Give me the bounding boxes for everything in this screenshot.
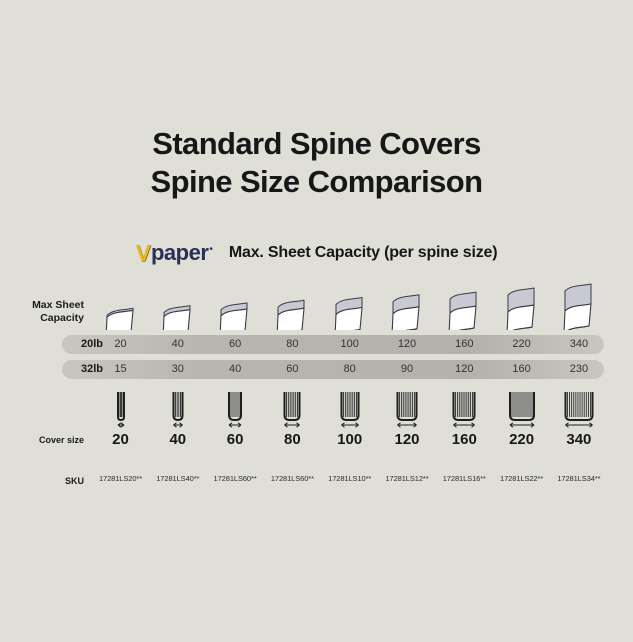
cover-size-value: 100 — [321, 431, 378, 448]
cover-size-value: 120 — [379, 431, 436, 448]
paper-stack-row — [0, 278, 633, 330]
spine-icon — [321, 390, 378, 436]
capacity-value: 60 — [264, 360, 321, 379]
cover-size-value: 160 — [436, 431, 493, 448]
capacity-value: 160 — [493, 360, 550, 379]
cover-size-value: 340 — [550, 431, 607, 448]
cover-size-value: 80 — [264, 431, 321, 448]
paper-stack-icon — [321, 278, 378, 330]
capacity-value: 100 — [321, 335, 378, 354]
sku-value: 17281LS20** — [90, 474, 152, 483]
sku-value: 17281LS16** — [433, 474, 495, 483]
spine-icon — [264, 390, 321, 436]
sku-value: 17281LS60** — [261, 474, 323, 483]
sku-value: 17281LS60** — [204, 474, 266, 483]
paper-stack-icon — [149, 278, 206, 330]
capacity-value: 80 — [264, 335, 321, 354]
spine-icon — [436, 390, 493, 436]
paper-stack-icon — [379, 278, 436, 330]
paper-stack-icon — [550, 278, 607, 330]
spine-icon — [550, 390, 607, 436]
capacity-value: 160 — [436, 335, 493, 354]
spine-icon — [149, 390, 206, 436]
cover-size-value: 60 — [207, 431, 264, 448]
cover-size-value: 40 — [149, 431, 206, 448]
weight-row-20lb: 20lb 20406080100120160220340 — [62, 335, 604, 354]
row-label-sku: SKU — [8, 475, 84, 488]
sku-value: 17281LS40** — [147, 474, 209, 483]
capacity-value: 15 — [92, 360, 149, 379]
sku-value: 17281LS10** — [319, 474, 381, 483]
cover-size-value: 20 — [92, 431, 149, 448]
spine-icon-row — [0, 390, 633, 436]
capacity-value: 120 — [436, 360, 493, 379]
paper-stack-icon — [493, 278, 550, 330]
capacity-value: 60 — [207, 335, 264, 354]
capacity-value: 80 — [321, 360, 378, 379]
paper-stack-icon — [436, 278, 493, 330]
spine-icon — [207, 390, 264, 436]
capacity-value: 230 — [550, 360, 607, 379]
paper-stack-icon — [92, 278, 149, 330]
sku-value: 17281LS34** — [548, 474, 610, 483]
paper-stack-icon — [264, 278, 321, 330]
capacity-value: 220 — [493, 335, 550, 354]
cover-size-value: 220 — [493, 431, 550, 448]
capacity-value: 40 — [149, 335, 206, 354]
capacity-value: 30 — [149, 360, 206, 379]
spine-icon — [493, 390, 550, 436]
capacity-value: 40 — [207, 360, 264, 379]
capacity-value: 90 — [379, 360, 436, 379]
paper-stack-icon — [207, 278, 264, 330]
weight-row-32lb: 32lb 153040608090120160230 — [62, 360, 604, 379]
spine-icon — [92, 390, 149, 436]
row-label-cover-size: Cover size — [8, 434, 84, 447]
sku-value: 17281LS12** — [376, 474, 438, 483]
comparison-table: Max Sheet Capacity — [0, 0, 633, 642]
capacity-value: 20 — [92, 335, 149, 354]
sku-value: 17281LS22** — [491, 474, 553, 483]
spine-icon — [379, 390, 436, 436]
capacity-value: 340 — [550, 335, 607, 354]
capacity-value: 120 — [379, 335, 436, 354]
